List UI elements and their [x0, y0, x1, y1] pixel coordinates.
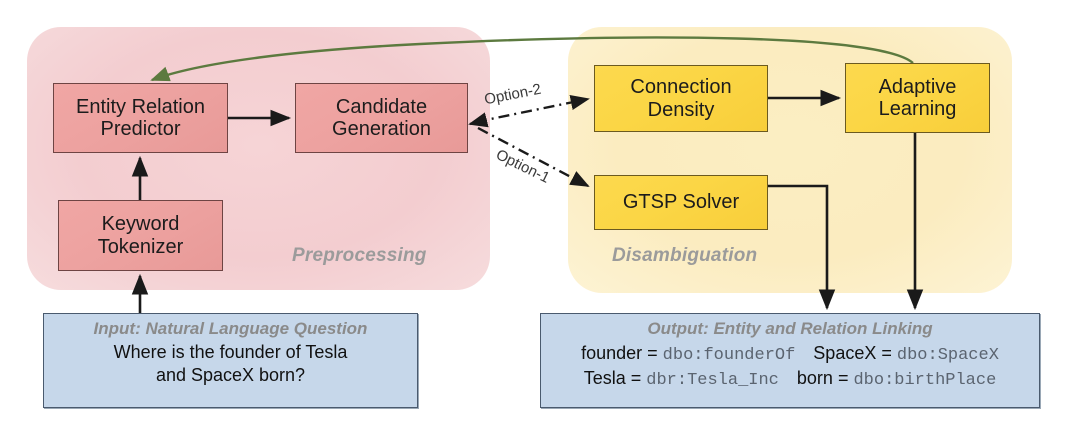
cg-line-2: Generation — [332, 118, 431, 140]
output-mapping: Tesla = dbr:Tesla_Inc — [584, 367, 779, 392]
mapping-value: dbo:founderOf — [663, 346, 796, 365]
input-question: Where is the founder of Tesla and SpaceX… — [44, 341, 417, 387]
mapping-eq: = — [881, 343, 892, 363]
diagram-canvas: Preprocessing Disambiguation Entity Rela… — [0, 0, 1080, 439]
mapping-key: founder — [581, 343, 642, 363]
cd-line-1: Connection — [630, 76, 731, 98]
erp-line-1: Entity Relation — [76, 96, 205, 118]
kt-line-1: Keyword — [102, 213, 180, 235]
input-question-line-2: and SpaceX born? — [156, 365, 305, 385]
output-row: Tesla = dbr:Tesla_Inc born = dbo:birthPl… — [541, 367, 1039, 392]
panel-label-disambiguation: Disambiguation — [612, 245, 757, 267]
input-question-line-1: Where is the founder of Tesla — [114, 342, 348, 362]
box-label: Entity RelationPredictor — [76, 96, 205, 141]
box-label: AdaptiveLearning — [879, 76, 957, 121]
box-keyword-tokenizer[interactable]: KeywordTokenizer — [58, 200, 223, 271]
box-entity-relation-predictor[interactable]: Entity RelationPredictor — [53, 83, 228, 153]
al-line-1: Adaptive — [879, 76, 957, 98]
mapping-eq: = — [838, 368, 849, 388]
input-title: Input: Natural Language Question — [44, 319, 417, 339]
box-candidate-generation[interactable]: CandidateGeneration — [295, 83, 468, 153]
output-box: Output: Entity and Relation Linking foun… — [540, 313, 1040, 408]
box-label: KeywordTokenizer — [98, 213, 184, 258]
box-label: CandidateGeneration — [332, 96, 431, 141]
kt-line-2: Tokenizer — [98, 236, 184, 258]
mapping-key: born — [797, 368, 833, 388]
output-row: founder = dbo:founderOf SpaceX = dbo:Spa… — [541, 342, 1039, 367]
box-label: ConnectionDensity — [630, 76, 731, 121]
edge-feedback-adaptive-to-predictor — [152, 38, 913, 80]
output-mapping: SpaceX = dbo:SpaceX — [813, 342, 999, 367]
output-mapping: born = dbo:birthPlace — [797, 367, 996, 392]
output-title: Output: Entity and Relation Linking — [541, 319, 1039, 339]
mapping-eq: = — [647, 343, 658, 363]
input-box: Input: Natural Language Question Where i… — [43, 313, 418, 408]
mapping-value: dbo:birthPlace — [853, 371, 996, 390]
output-mapping: founder = dbo:founderOf — [581, 342, 795, 367]
cd-line-2: Density — [648, 99, 715, 121]
al-line-2: Learning — [879, 98, 957, 120]
edge-gtsp-to-output — [768, 186, 827, 308]
panel-label-preprocessing: Preprocessing — [292, 245, 427, 267]
mapping-key: SpaceX — [813, 343, 876, 363]
box-connection-density[interactable]: ConnectionDensity — [594, 65, 768, 132]
mapping-value: dbr:Tesla_Inc — [646, 371, 779, 390]
box-label: GTSP Solver — [623, 191, 739, 213]
box-gtsp-solver[interactable]: GTSP Solver — [594, 175, 768, 230]
erp-line-2: Predictor — [100, 118, 180, 140]
edge-option-2-back — [470, 121, 482, 124]
cg-line-1: Candidate — [336, 96, 427, 118]
mapping-eq: = — [631, 368, 642, 388]
box-adaptive-learning[interactable]: AdaptiveLearning — [845, 63, 990, 133]
mapping-key: Tesla — [584, 368, 626, 388]
mapping-value: dbo:SpaceX — [897, 346, 999, 365]
